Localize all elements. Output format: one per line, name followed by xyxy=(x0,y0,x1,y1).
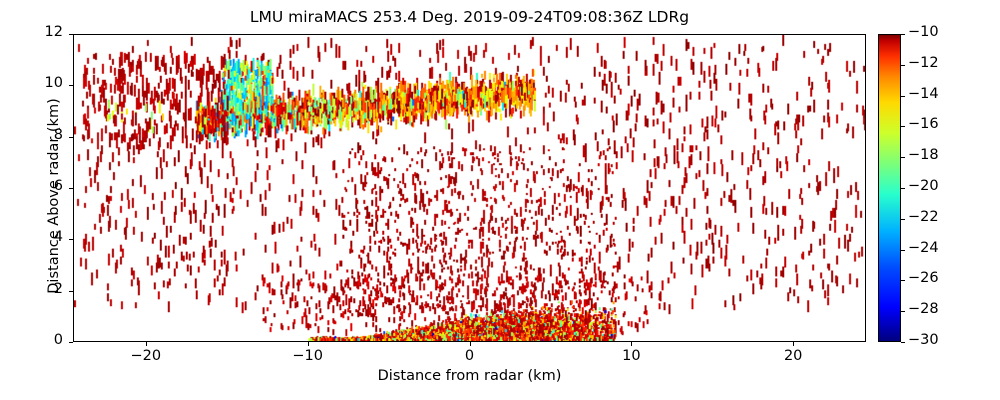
colorbar-tick xyxy=(901,188,905,189)
x-tick xyxy=(631,342,632,346)
colorbar-tick-label: −14 xyxy=(908,86,939,102)
y-tick xyxy=(69,137,73,138)
colorbar-tick xyxy=(901,65,905,66)
y-tick xyxy=(69,291,73,292)
colorbar-tick xyxy=(901,157,905,158)
colorbar-tick-label: −22 xyxy=(908,209,939,225)
colorbar-tick xyxy=(901,311,905,312)
colorbar-tick-label: −20 xyxy=(908,178,939,194)
colorbar-tick xyxy=(901,126,905,127)
x-tick xyxy=(308,342,309,346)
colorbar-tick xyxy=(901,250,905,251)
plot-axes xyxy=(73,34,866,342)
colorbar-tick xyxy=(901,280,905,281)
x-tick xyxy=(793,342,794,346)
x-tick-label: 10 xyxy=(601,348,661,364)
colorbar-tick xyxy=(901,342,905,343)
x-axis-label: Distance from radar (km) xyxy=(73,368,866,384)
x-tick xyxy=(146,342,147,346)
y-tick xyxy=(69,85,73,86)
colorbar-tick-label: −10 xyxy=(908,24,939,40)
y-tick-label: 12 xyxy=(18,24,63,40)
x-tick-label: −20 xyxy=(116,348,176,364)
colorbar-tick-label: −30 xyxy=(908,332,939,348)
x-tick xyxy=(470,342,471,346)
colorbar-tick xyxy=(901,34,905,35)
y-tick xyxy=(69,34,73,35)
x-tick-label: 20 xyxy=(763,348,823,364)
colorbar-tick-label: −28 xyxy=(908,301,939,317)
y-tick xyxy=(69,188,73,189)
colorbar-tick-label: −16 xyxy=(908,116,939,132)
colorbar-tick-label: −18 xyxy=(908,147,939,163)
colorbar-tick xyxy=(901,219,905,220)
colorbar-tick xyxy=(901,96,905,97)
colorbar-tick-label: −12 xyxy=(908,55,939,71)
x-tick-label: −10 xyxy=(278,348,338,364)
x-tick-label: 0 xyxy=(440,348,500,364)
figure: LMU miraMACS 253.4 Deg. 2019-09-24T09:08… xyxy=(0,0,1000,400)
colorbar-tick-label: −26 xyxy=(908,270,939,286)
colorbar xyxy=(878,34,901,342)
colorbar-tick-label: −24 xyxy=(908,240,939,256)
plot-title: LMU miraMACS 253.4 Deg. 2019-09-24T09:08… xyxy=(73,8,866,26)
y-axis-label: Distance Above radar (km) xyxy=(46,46,62,346)
y-tick xyxy=(69,239,73,240)
y-tick xyxy=(69,342,73,343)
radar-rhi-scatter xyxy=(74,35,865,341)
